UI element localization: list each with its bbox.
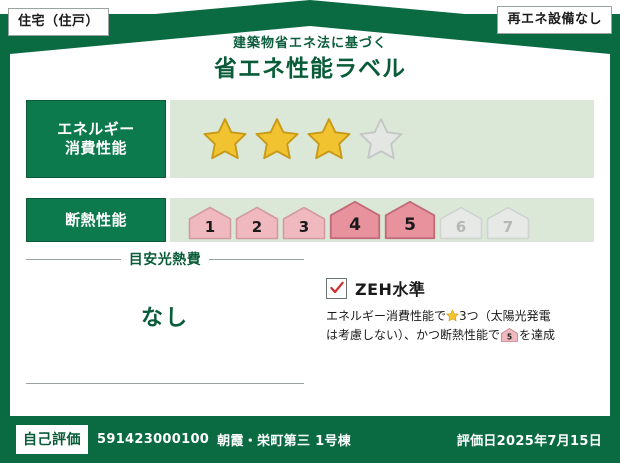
insulation-level-number: 2: [252, 218, 262, 240]
insulation-level-number: 7: [503, 218, 513, 240]
star-icon-inline: [446, 309, 459, 322]
check-icon: [329, 280, 345, 296]
insulation-level-4: 4: [329, 200, 381, 240]
utility-cost-heading: 目安光熱費: [26, 250, 304, 268]
insulation-level-scale: 1234567: [170, 200, 530, 240]
utility-cost-bottom-rule: [26, 383, 304, 384]
insulation-badge-inline: 5: [501, 328, 518, 342]
insulation-performance-row: 断熱性能 1234567: [26, 198, 594, 242]
registration-id: 591423000100: [97, 432, 209, 447]
zeh-title: ZEH水準: [355, 276, 425, 300]
insulation-level-1: 1: [188, 206, 232, 240]
title-subtitle: 建築物省エネ法に基づく: [0, 36, 620, 52]
insulation-level-2: 2: [235, 206, 279, 240]
property-name: 朝霞・栄町第三 1号棟: [217, 430, 351, 449]
energy-key-line1: エネルギー: [57, 120, 135, 138]
zeh-desc-part1: エネルギー消費性能で: [326, 309, 446, 323]
star-rating: [170, 116, 404, 162]
insulation-level-number: 3: [299, 218, 309, 240]
star-icon-filled: [254, 116, 300, 162]
insulation-level-number: 6: [456, 218, 466, 240]
energy-performance-value: [170, 100, 594, 178]
zeh-checkbox[interactable]: [326, 278, 347, 299]
title-main: 省エネ性能ラベル: [0, 56, 620, 84]
lower-section: 目安光熱費 なし ZEH水準 エネルギー消費性能で3つ（太陽光発電は考慮しない）…: [26, 250, 594, 400]
zeh-desc-part2: 3つ（太陽光発電: [459, 309, 551, 323]
energy-performance-key: エネルギー 消費性能: [26, 100, 166, 178]
label-title-block: 建築物省エネ法に基づく 省エネ性能ラベル: [0, 36, 620, 83]
evaluation-date: 評価日2025年7月15日: [457, 430, 602, 449]
insulation-badge-number: 5: [507, 332, 512, 341]
insulation-level-6: 6: [439, 206, 483, 240]
utility-cost-value: なし: [26, 300, 304, 332]
zeh-column: ZEH水準 エネルギー消費性能で3つ（太陽光発電は考慮しない）、かつ断熱性能で5…: [326, 276, 594, 344]
zeh-description: エネルギー消費性能で3つ（太陽光発電は考慮しない）、かつ断熱性能で5を達成: [326, 307, 594, 344]
label-footer: 自己評価 591423000100 朝霞・栄町第三 1号棟 評価日2025年7月…: [0, 416, 620, 463]
insulation-performance-key: 断熱性能: [26, 198, 166, 242]
insulation-level-number: 4: [349, 215, 361, 240]
star-icon-filled: [202, 116, 248, 162]
utility-cost-heading-text: 目安光熱費: [121, 249, 210, 269]
star-icon-empty: [358, 116, 404, 162]
zeh-heading: ZEH水準: [326, 276, 594, 300]
energy-performance-row: エネルギー 消費性能: [26, 100, 594, 178]
insulation-level-5: 5: [384, 200, 436, 240]
insulation-level-number: 1: [205, 218, 215, 240]
insulation-level-7: 7: [486, 206, 530, 240]
renewable-energy-tag: 再エネ設備なし: [497, 6, 612, 34]
house-icon-inline: 5: [501, 328, 518, 342]
energy-performance-label: 住宅（住戸） 再エネ設備なし 建築物省エネ法に基づく 省エネ性能ラベル エネルギ…: [0, 0, 620, 463]
evaluation-type-tag: 自己評価: [16, 425, 88, 454]
insulation-level-number: 5: [404, 215, 416, 240]
star-icon-filled: [306, 116, 352, 162]
zeh-desc-part3: は考慮しない）、かつ断熱性能で: [326, 328, 500, 342]
building-type-tag: 住宅（住戸）: [8, 8, 109, 36]
energy-key-line2: 消費性能: [65, 139, 127, 157]
insulation-level-3: 3: [282, 206, 326, 240]
zeh-desc-part4: を達成: [519, 328, 555, 342]
insulation-performance-value: 1234567: [170, 198, 594, 242]
utility-cost-column: 目安光熱費 なし: [26, 250, 304, 400]
